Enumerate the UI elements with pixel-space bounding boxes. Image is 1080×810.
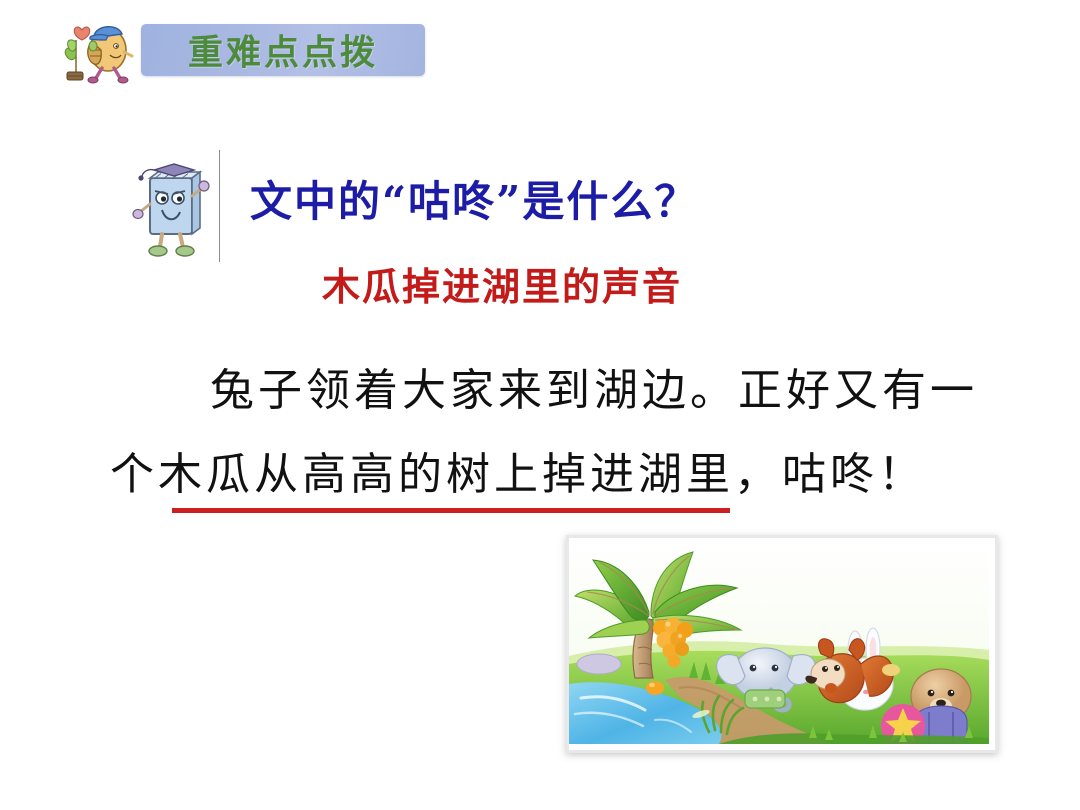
passage-line-1: 兔子领着大家来到湖边。正好又有一 xyxy=(210,354,978,418)
egg-hiker-mascot-icon xyxy=(46,10,146,90)
lakeside-scene-image xyxy=(566,535,998,753)
question-text: 文中的“咕咚”是什么？ xyxy=(250,168,698,229)
book-character-mascot-icon xyxy=(128,152,218,262)
passage-red-underline xyxy=(172,508,730,513)
vertical-divider xyxy=(219,150,220,262)
passage-line-2: 个木瓜从高高的树上掉进湖里，咕咚！ xyxy=(110,438,926,502)
answer-text: 木瓜掉进湖里的声音 xyxy=(322,256,682,311)
slide-canvas: 重难点点拨 xyxy=(0,0,1080,810)
section-title-banner: 重难点点拨 xyxy=(141,24,425,76)
section-title-text: 重难点点拨 xyxy=(141,25,425,76)
